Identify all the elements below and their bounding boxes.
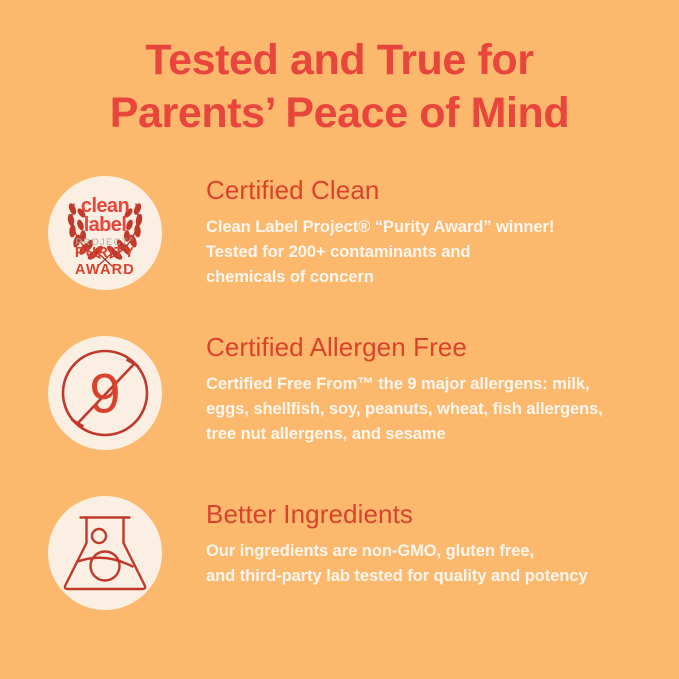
badge-award-line-1: PURITY <box>48 245 162 262</box>
badge-registered-mark: ® <box>129 237 135 243</box>
feature-body-line: Clean Label Project® “Purity Award” winn… <box>206 215 661 240</box>
feature-body-line: chemicals of concern <box>206 265 661 290</box>
feature-title: Certified Allergen Free <box>206 333 661 362</box>
feature-body-line: tree nut allergens, and sesame <box>206 422 661 447</box>
feature-better-ingredients: Better Ingredients Our ingredients are n… <box>0 496 679 656</box>
headline-line-2: Parents’ Peace of Mind <box>0 87 679 140</box>
nine-allergens-crossed-out-icon: 9 <box>48 336 162 450</box>
feature-certified-clean: clean label PROJECT® PURITY AWARD Certif… <box>0 176 679 336</box>
feature-text-block: Better Ingredients Our ingredients are n… <box>206 500 661 589</box>
feature-body: Clean Label Project® “Purity Award” winn… <box>206 215 661 290</box>
feature-body-line: eggs, shellfish, soy, peanuts, wheat, fi… <box>206 397 661 422</box>
feature-body-line: Our ingredients are non-GMO, gluten free… <box>206 539 661 564</box>
feature-text-block: Certified Clean Clean Label Project® “Pu… <box>206 176 661 290</box>
badge-award-line-2: AWARD <box>48 262 162 279</box>
badge-number: 9 <box>89 362 120 425</box>
headline-line-1: Tested and True for <box>0 34 679 87</box>
feature-body-line: Certified Free From™ the 9 major allerge… <box>206 372 661 397</box>
marketing-poster: Tested and True for Parents’ Peace of Mi… <box>0 0 679 679</box>
feature-certified-allergen-free: 9 Certified Allergen Free Certified Free… <box>0 336 679 496</box>
badge-brand-line-2: label <box>48 216 162 235</box>
feature-body: Our ingredients are non-GMO, gluten free… <box>206 539 661 589</box>
feature-body-line: Tested for 200+ contaminants and <box>206 240 661 265</box>
feature-text-block: Certified Allergen Free Certified Free F… <box>206 333 661 447</box>
erlenmeyer-flask-icon <box>48 496 162 610</box>
feature-list: clean label PROJECT® PURITY AWARD Certif… <box>0 176 679 656</box>
page-title: Tested and True for Parents’ Peace of Mi… <box>0 34 679 141</box>
feature-title: Certified Clean <box>206 176 661 205</box>
feature-body-line: and third-party lab tested for quality a… <box>206 564 661 589</box>
feature-body: Certified Free From™ the 9 major allerge… <box>206 372 661 447</box>
clean-label-project-purity-award-badge: clean label PROJECT® PURITY AWARD <box>48 176 162 290</box>
feature-title: Better Ingredients <box>206 500 661 529</box>
